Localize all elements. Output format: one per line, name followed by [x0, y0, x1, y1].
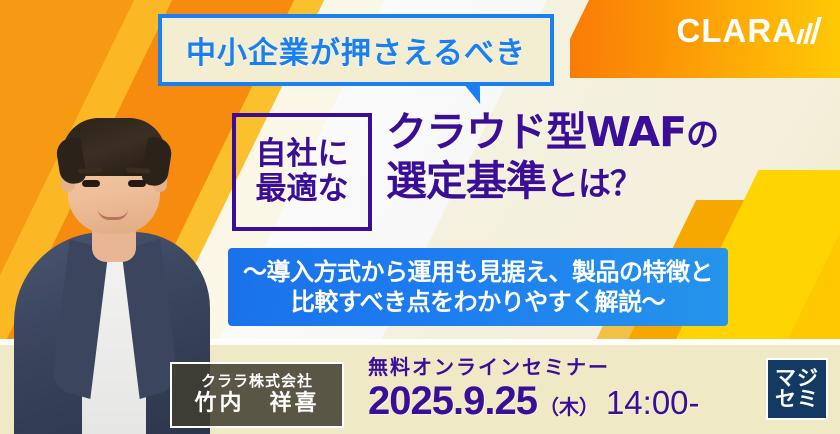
subtitle-line-2: 比較すべき点をわかりやすく解説〜 — [291, 288, 665, 316]
event-time: 14:00- — [606, 386, 700, 419]
badge-line-2: 最適な — [256, 173, 349, 206]
speaker-name: 竹内 祥喜 — [194, 391, 319, 417]
headline-line-1-suffix: の — [686, 115, 718, 154]
event-info: 無料オンラインセミナー 2025.9.25 （木） 14:00- — [368, 356, 700, 421]
clara-logo: CLARA — [677, 14, 818, 47]
headline-line-2-main: 選定基準 — [386, 157, 546, 205]
speaker-box: クララ株式会社 竹内 祥喜 — [170, 362, 344, 428]
seminar-banner: CLARA 中小企業が押さえるべき 自社に 最適な クラウド型WAFの 選定基準… — [0, 0, 840, 434]
headline-line-1-main: クラウド型WAF — [386, 108, 686, 156]
speaker-company: クララ株式会社 — [201, 372, 313, 390]
clara-logo-text: CLARA — [677, 14, 797, 47]
headline-line-2: 選定基準とは？ — [386, 159, 786, 203]
subtitle-line-1: 〜導入方式から運用も見据え、製品の特徴と — [243, 258, 713, 286]
event-date: 2025.9.25 — [368, 381, 537, 421]
majisemi-logo-line-2: セミ — [775, 389, 819, 410]
clara-logo-banner: CLARA — [570, 0, 840, 78]
subtitle-box: 〜導入方式から運用も見据え、製品の特徴と 比較すべき点をわかりやすく解説〜 — [228, 248, 728, 326]
event-date-line: 2025.9.25 （木） 14:00- — [368, 381, 700, 421]
presenter-eye-right — [128, 180, 146, 187]
headline-line-1: クラウド型WAFの — [386, 110, 786, 154]
presenter-eye-left — [82, 180, 100, 187]
event-label: 無料オンラインセミナー — [368, 356, 700, 378]
headline: クラウド型WAFの 選定基準とは？ — [386, 110, 786, 204]
majisemi-logo-line-1: マジ — [775, 368, 819, 389]
badge-line-1: 自社に — [256, 138, 349, 171]
headline-line-2-suffix: とは？ — [546, 164, 642, 203]
callout-text: 中小企業が押さえるべき — [162, 18, 550, 82]
event-day-of-week: （木） — [539, 391, 599, 420]
majisemi-logo: マジ セミ — [766, 358, 828, 420]
badge-box: 自社に 最適な — [232, 113, 372, 231]
callout-box: 中小企業が押さえるべき — [158, 14, 554, 86]
